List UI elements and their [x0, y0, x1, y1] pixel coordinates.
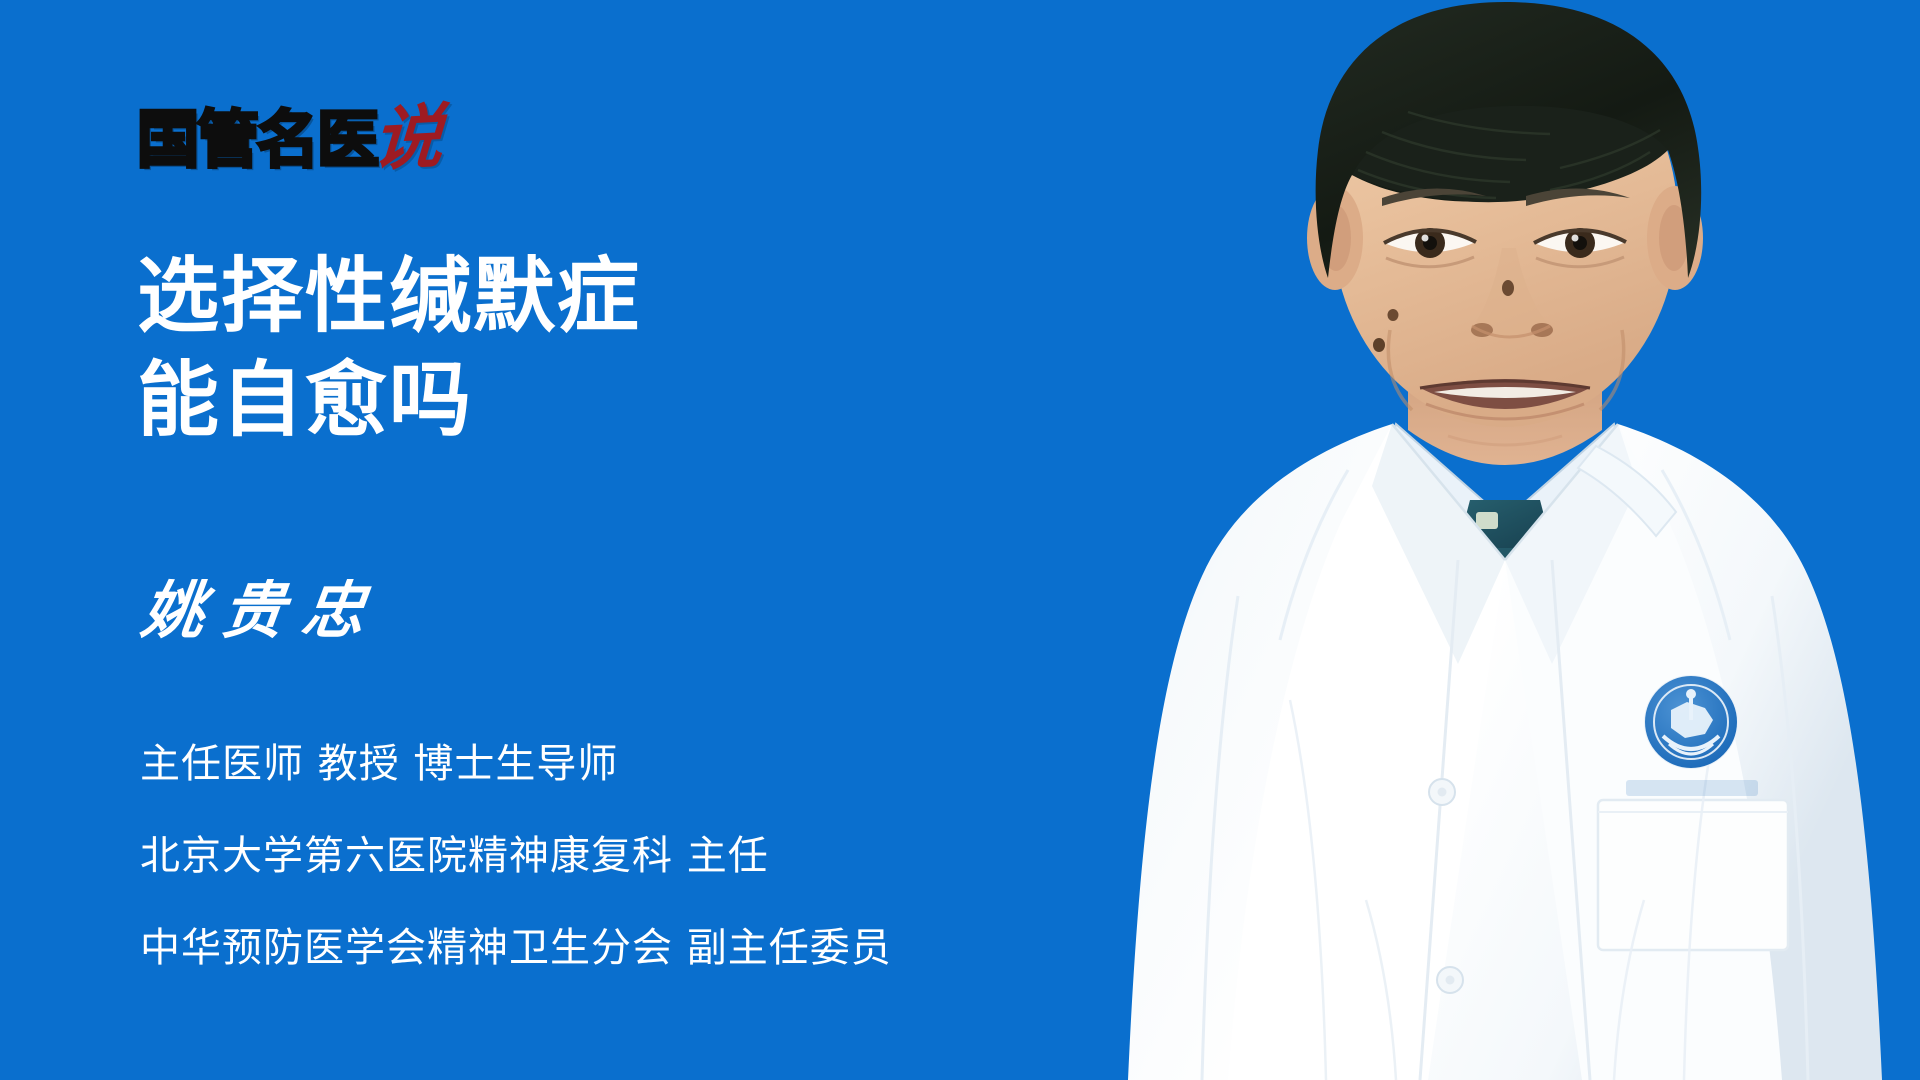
episode-title-line-1: 选择性缄默症 — [137, 245, 1037, 349]
poster-canvas: 国管名医 说 选择性缄默症 能自愈吗 姚贵忠 主任医师 教授 博士生导师 北京大… — [0, 0, 1920, 1080]
doctor-portrait — [1090, 0, 1920, 1080]
credential-line: 主任医师 教授 博士生导师 — [140, 718, 1080, 810]
doctor-credentials: 主任医师 教授 博士生导师 北京大学第六医院精神康复科 主任 中华预防医学会精神… — [140, 718, 1080, 994]
episode-title-line-2: 能自愈吗 — [137, 349, 1037, 453]
program-logo: 国管名医 说 — [137, 98, 441, 172]
program-logo-accent-text: 说 — [371, 104, 445, 172]
coat-badge — [1644, 675, 1738, 769]
credential-line: 中华预防医学会精神卫生分会 副主任委员 — [140, 902, 1080, 994]
text-column: 国管名医 说 选择性缄默症 能自愈吗 姚贵忠 主任医师 教授 博士生导师 北京大… — [0, 0, 1100, 1080]
doctor-portrait-illustration — [1090, 0, 1920, 1080]
credential-line: 北京大学第六医院精神康复科 主任 — [140, 810, 1080, 902]
episode-title: 选择性缄默症 能自愈吗 — [137, 245, 1037, 453]
program-logo-main-text: 国管名医 — [137, 108, 377, 172]
doctor-name: 姚贵忠 — [138, 576, 387, 646]
